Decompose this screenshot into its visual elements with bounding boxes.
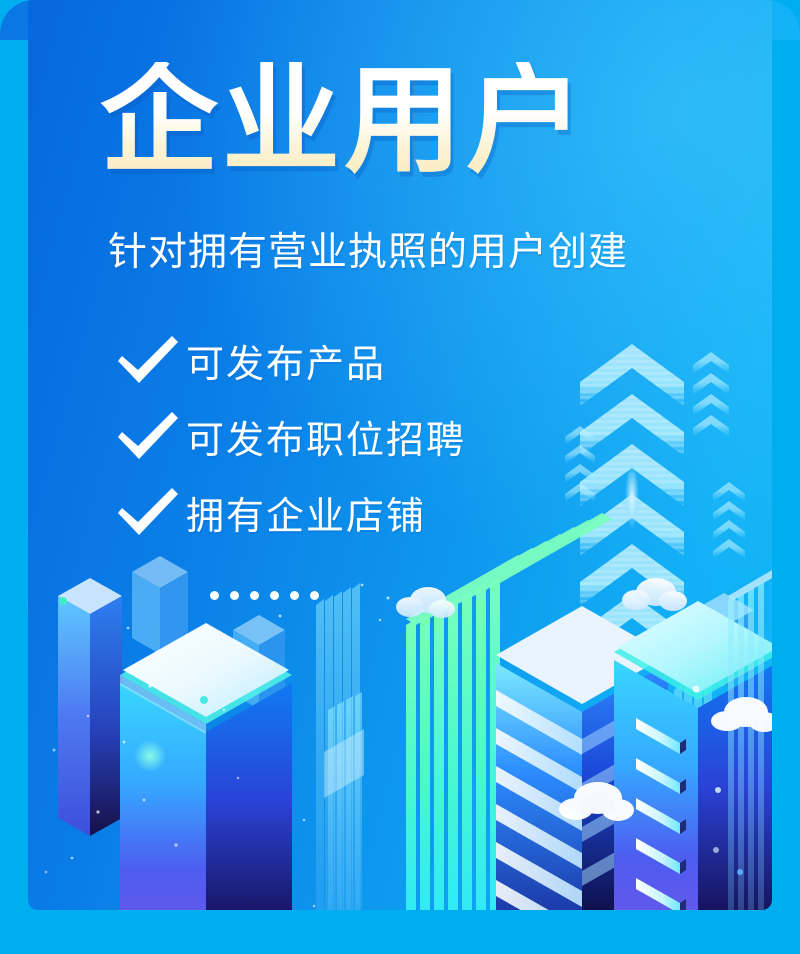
page-title: 企业用户	[100, 62, 588, 180]
feature-label: 可发布产品	[186, 333, 386, 388]
cloud-icon	[622, 578, 687, 611]
stripe-fan-green	[406, 577, 500, 910]
dot	[230, 591, 239, 600]
feature-list: 可发布产品 可发布职位招聘 拥有企业店铺	[112, 322, 466, 550]
list-item: 可发布职位招聘	[112, 398, 466, 474]
dot	[250, 591, 259, 600]
feature-label: 拥有企业店铺	[186, 485, 426, 540]
dot	[310, 591, 319, 600]
promo-card-plate: 企业用户 针对拥有营业执照的用户创建 可发布产品 可发布职位招聘	[0, 0, 800, 954]
list-item: 拥有企业店铺	[112, 474, 466, 550]
check-icon	[112, 408, 186, 464]
building-small-left	[58, 578, 122, 836]
dot	[270, 591, 279, 600]
promo-card: 企业用户 针对拥有营业执照的用户创建 可发布产品 可发布职位招聘	[28, 0, 772, 910]
dot	[290, 591, 299, 600]
building-left-main	[120, 623, 292, 910]
dot	[210, 591, 219, 600]
page-subtitle: 针对拥有营业执照的用户创建	[108, 233, 628, 272]
list-item: 可发布产品	[112, 322, 466, 398]
ellipsis-dots	[210, 591, 319, 600]
check-icon	[112, 484, 186, 540]
feature-label: 可发布职位招聘	[186, 409, 466, 464]
check-icon	[112, 332, 186, 388]
